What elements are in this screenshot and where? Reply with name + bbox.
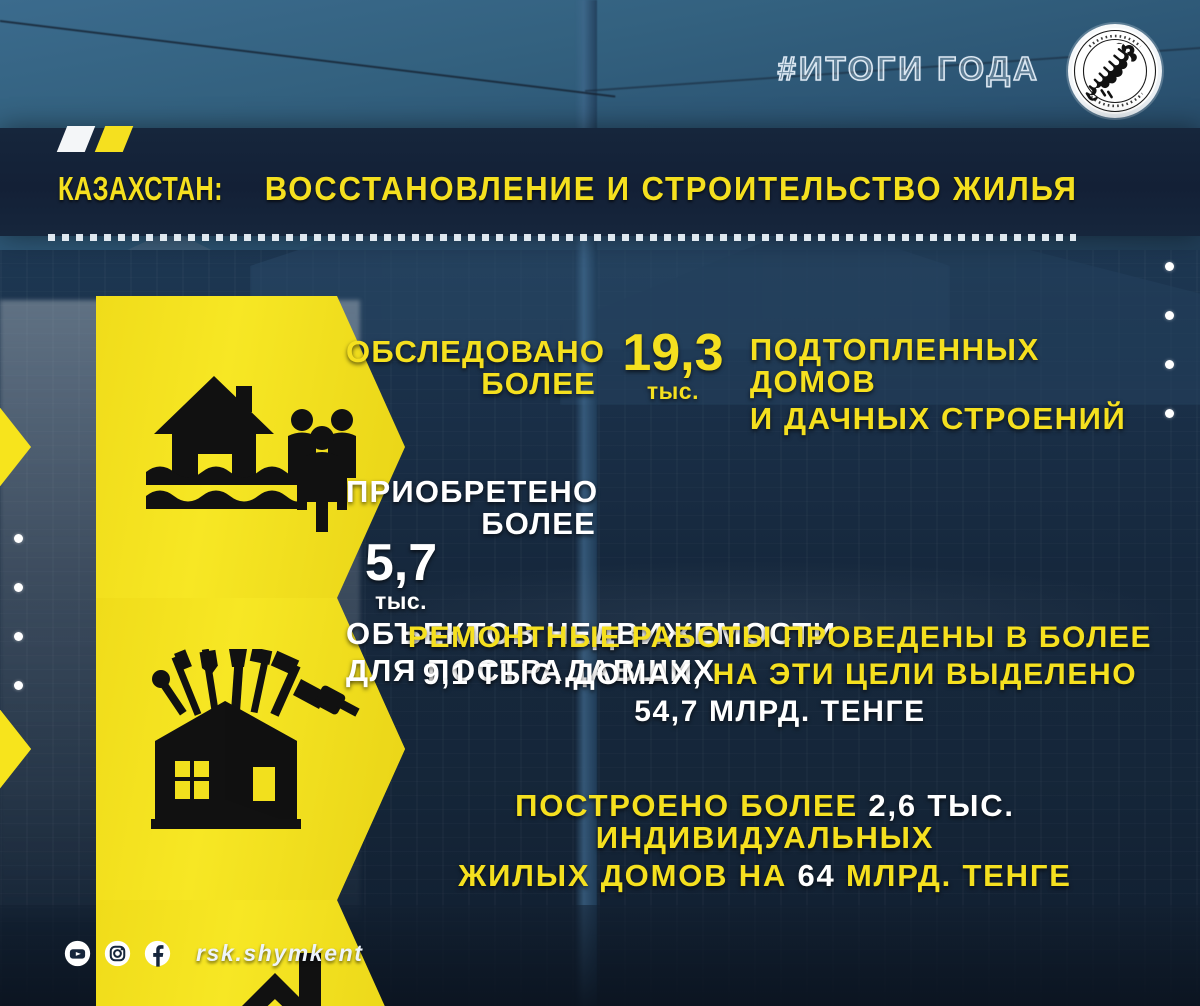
stat-row-1-label: ОБСЛЕДОВАНО БОЛЕЕ [346,330,596,400]
title-dashed-divider [48,234,1076,241]
stat-row-1-desc-line2: И ДАЧНЫХ СТРОЕНИЙ [750,403,1176,435]
page-title-rest: ВОССТАНОВЛЕНИЕ И СТРОИТЕЛЬСТВО ЖИЛЬЯ [265,170,1078,207]
stat-row-2-label: ПРИОБРЕТЕНО БОЛЕЕ [346,470,596,540]
stat-row-2-unit: тыс. [346,590,456,614]
stat-row-1-label-line2: БОЛЕЕ [346,368,596,400]
chevron-small-icon [0,598,104,900]
stat-row-1-label-line1: ОБСЛЕДОВАНО [346,336,596,368]
stat-row-3-line2-yellow: НА ЭТИ ЦЕЛИ ВЫДЕЛЕНО [713,658,1138,691]
dot [1165,311,1174,320]
stat-row-3-line2-white: 9,1 ТЫС. ДОМАХ, [423,658,703,691]
stat-row-2-label-line1: ПРИОБРЕТЕНО [346,476,596,508]
slash-accent-marks [62,126,152,152]
slash-yellow-icon [95,126,134,152]
stat-row-3-line3: 54,7 МЛРД. ТЕНГЕ [380,696,1180,727]
page-title: КАЗАХСТАН:ВОССТАНОВЛЕНИЕ И СТРОИТЕЛЬСТВО… [58,172,1078,205]
instagram-icon[interactable] [104,940,131,967]
social-handle[interactable]: rsk.shymkent [196,940,364,967]
page-title-lead: КАЗАХСТАН: [58,172,223,205]
stat-row-2-number-block: 5,7 тыс. [346,540,456,614]
stat-row-1-desc-line1: ПОДТОПЛЕННЫХ ДОМОВ [750,334,1176,398]
stat-row-4-line2-white: 64 [798,858,836,893]
stat-row-1-unit: тыс. [618,380,728,404]
stat-row-3-line1: РЕМОНТНЫЕ РАБОТЫ ПРОВЕДЕНЫ В БОЛЕЕ [380,622,1180,653]
infographic-poster: #ИТОГИ ГОДА [0,0,1200,1006]
stat-row-3: РЕМОНТНЫЕ РАБОТЫ ПРОВЕДЕНЫ В БОЛЕЕ 9,1 Т… [380,622,1180,728]
shymkent-emblem-logo [1068,24,1162,118]
stat-row-4-line1-yellow-a: ПОСТРОЕНО БОЛЕЕ [515,788,858,823]
stat-row-4: ПОСТРОЕНО БОЛЕЕ 2,6 ТЫС. ИНДИВИДУАЛЬНЫХ … [350,790,1180,893]
stat-row-4-line2-yellow-b: МЛРД. ТЕНГЕ [846,858,1072,893]
stat-row-2: ПРИОБРЕТЕНО БОЛЕЕ 5,7 тыс. ОБЪЕКТОВ НЕДВ… [346,470,1176,570]
stat-row-3-line2: 9,1 ТЫС. ДОМАХ, НА ЭТИ ЦЕЛИ ВЫДЕЛЕНО [380,659,1180,690]
stat-row-4-line1-white: 2,6 ТЫС. [868,788,1014,823]
year-results-hashtag: #ИТОГИ ГОДА [777,50,1040,88]
stat-row-1-description: ПОДТОПЛЕННЫХ ДОМОВ И ДАЧНЫХ СТРОЕНИЙ [750,330,1176,436]
stat-row-4-line2-yellow-a: ЖИЛЫХ ДОМОВ НА [458,858,787,893]
chevron-row [0,296,405,598]
stat-row-1: ОБСЛЕДОВАНО БОЛЕЕ 19,3 тыс. ПОДТОПЛЕННЫХ… [346,330,1176,430]
chevron-small-icon [0,296,104,598]
stat-row-4-line1-yellow-b: ИНДИВИДУАЛЬНЫХ [596,820,935,855]
facebook-icon[interactable] [144,940,171,967]
youtube-icon[interactable] [64,940,91,967]
stat-row-4-line2: ЖИЛЫХ ДОМОВ НА 64 МЛРД. ТЕНГЕ [350,860,1180,892]
dot [1165,262,1174,271]
slash-white-icon [57,126,96,152]
stat-row-1-number: 19,3 [618,330,728,378]
stat-row-4-line1: ПОСТРОЕНО БОЛЕЕ 2,6 ТЫС. ИНДИВИДУАЛЬНЫХ [350,790,1180,854]
chevron-row [0,598,405,900]
stat-row-1-number-block: 19,3 тыс. [618,330,728,404]
stat-row-2-number: 5,7 [346,540,456,588]
footer-social-bar: rsk.shymkent [64,940,364,967]
